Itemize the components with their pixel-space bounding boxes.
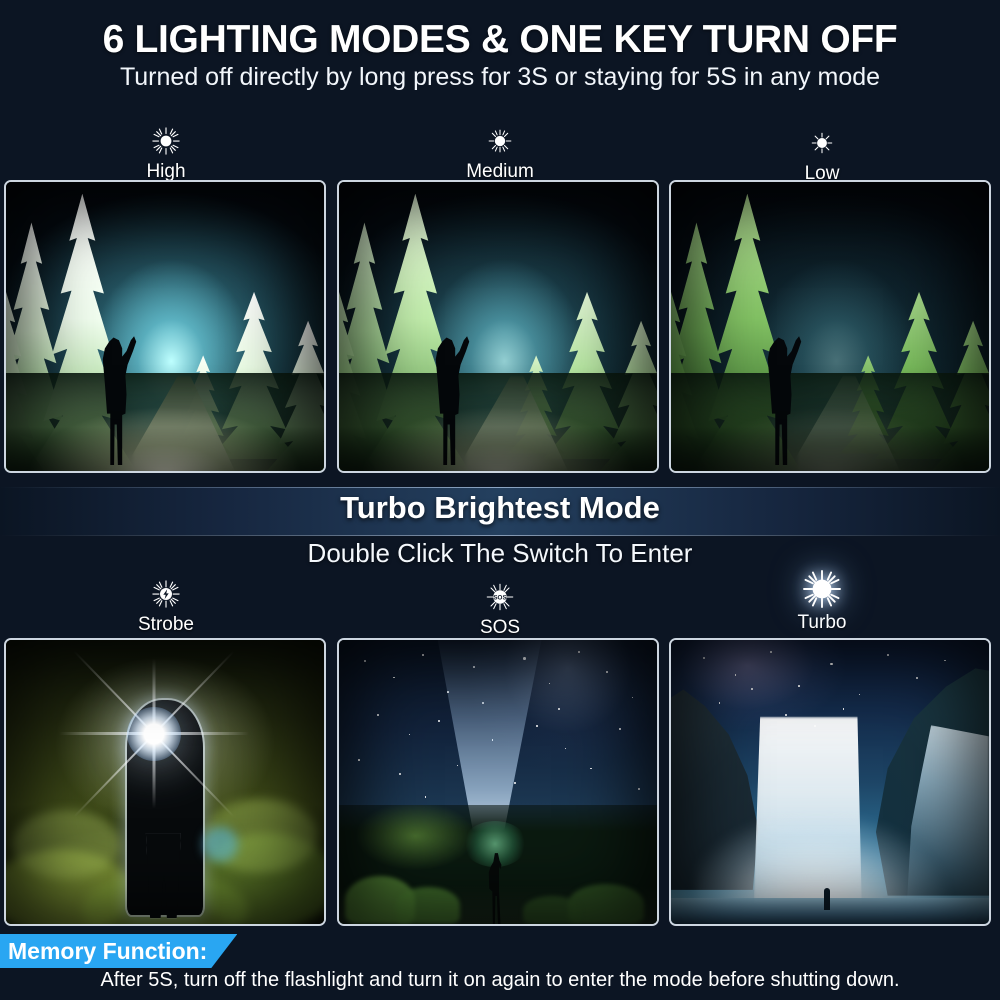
mode-head-strobe: Strobe xyxy=(66,575,266,635)
mode-label-high: High xyxy=(66,162,266,182)
banner-title: Turbo Brightest Mode xyxy=(0,490,1000,526)
sun-bolt-icon xyxy=(66,575,266,613)
memory-function-note: After 5S, turn off the flashlight and tu… xyxy=(0,969,1000,992)
banner-top-rule xyxy=(0,487,1000,488)
memory-function-label: Memory Function: xyxy=(8,938,207,965)
svg-text:SOS: SOS xyxy=(493,595,506,602)
mode-label-medium: Medium xyxy=(400,162,600,182)
mode-head-sos: SOS SOS xyxy=(400,578,600,638)
mode-label-strobe: Strobe xyxy=(66,615,266,635)
page-subtitle: Turned off directly by long press for 3S… xyxy=(0,63,1000,92)
forest-scene-medium xyxy=(339,182,657,471)
forest-scene-low xyxy=(671,182,989,471)
page-title: 6 LIGHTING MODES & ONE KEY TURN OFF xyxy=(0,18,1000,62)
banner-subtitle: Double Click The Switch To Enter xyxy=(0,538,1000,569)
sun-low-icon xyxy=(722,124,922,162)
infographic-page: 6 LIGHTING MODES & ONE KEY TURN OFF Turn… xyxy=(0,0,1000,1000)
sun-turbo-icon xyxy=(722,567,922,611)
mode-head-turbo: Turbo xyxy=(722,567,922,633)
mode-label-sos: SOS xyxy=(400,618,600,638)
photo-panel-sos xyxy=(337,638,659,926)
mode-head-medium: Medium xyxy=(400,122,600,182)
waterfall-scene xyxy=(671,640,989,924)
mode-label-turbo: Turbo xyxy=(722,613,922,633)
photo-panel-turbo xyxy=(669,638,991,926)
photo-panel-high xyxy=(4,180,326,473)
forest-scene-high xyxy=(6,182,324,471)
sun-sos-icon: SOS xyxy=(400,578,600,616)
mode-head-low: Low xyxy=(722,124,922,184)
banner-bottom-rule xyxy=(0,535,1000,536)
photo-panel-strobe xyxy=(4,638,326,926)
photo-panel-medium xyxy=(337,180,659,473)
photo-panel-low xyxy=(669,180,991,473)
memory-function-tag: Memory Function: xyxy=(0,934,237,968)
sos-scene xyxy=(339,640,657,924)
sun-medium-icon xyxy=(400,122,600,160)
mode-head-high: High xyxy=(66,122,266,182)
sun-high-icon xyxy=(66,122,266,160)
strobe-scene xyxy=(6,640,324,924)
